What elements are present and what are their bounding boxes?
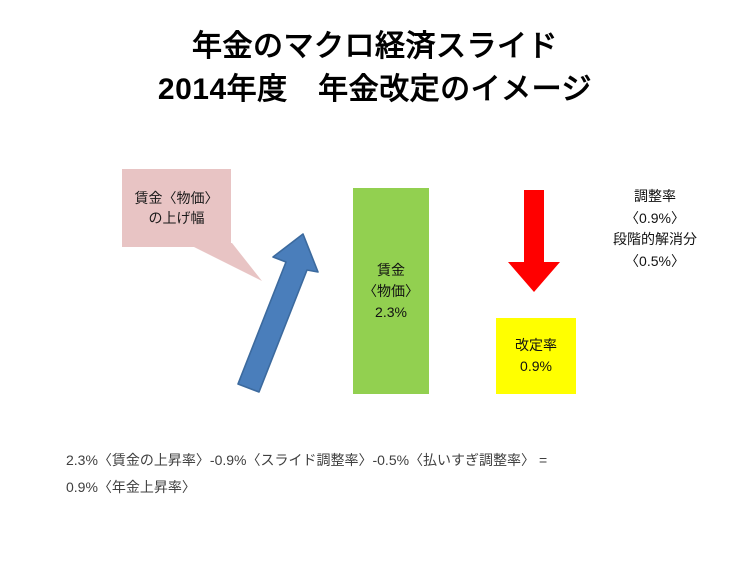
wage-increase-callout: 賃金〈物価〉 の上げ幅 bbox=[122, 169, 231, 247]
adjust-note-line-2: 〈0.9%〉 bbox=[575, 208, 735, 230]
callout-line-1: 賃金〈物価〉 bbox=[135, 188, 219, 208]
title-line-2: 2014年度 年金改定のイメージ bbox=[0, 69, 750, 112]
upward-growth-arrow-icon bbox=[226, 226, 330, 402]
green-bar-line-1: 賃金 bbox=[377, 260, 405, 281]
revision-rate-box: 改定率 0.9% bbox=[496, 318, 576, 394]
adjust-note-line-4: 〈0.5%〉 bbox=[575, 251, 735, 273]
adjust-note-line-1: 調整率 bbox=[575, 186, 735, 208]
downward-reduction-arrow-icon bbox=[505, 186, 563, 296]
green-bar-value: 2.3% bbox=[375, 302, 407, 323]
title-line-1: 年金のマクロ経済スライド bbox=[0, 26, 750, 69]
green-bar-line-2: 〈物価〉 bbox=[363, 281, 419, 302]
callout-tail-icon bbox=[186, 243, 262, 281]
formula-line-2: 0.9%〈年金上昇率〉 bbox=[66, 474, 706, 501]
callout-line-2: の上げ幅 bbox=[149, 208, 205, 228]
adjust-note-line-3: 段階的解消分 bbox=[575, 229, 735, 251]
page-title: 年金のマクロ経済スライド 2014年度 年金改定のイメージ bbox=[0, 26, 750, 111]
formula-text: 2.3%〈賃金の上昇率〉-0.9%〈スライド調整率〉-0.5%〈払いすぎ調整率〉… bbox=[66, 447, 706, 502]
wage-price-bar: 賃金 〈物価〉 2.3% bbox=[353, 188, 429, 394]
adjustment-rate-note: 調整率 〈0.9%〉 段階的解消分 〈0.5%〉 bbox=[575, 186, 735, 273]
yellow-box-value: 0.9% bbox=[520, 356, 552, 377]
slide-canvas: 年金のマクロ経済スライド 2014年度 年金改定のイメージ 賃金〈物価〉 の上げ… bbox=[0, 0, 750, 563]
yellow-box-label: 改定率 bbox=[515, 335, 557, 356]
formula-line-1: 2.3%〈賃金の上昇率〉-0.9%〈スライド調整率〉-0.5%〈払いすぎ調整率〉… bbox=[66, 447, 706, 474]
